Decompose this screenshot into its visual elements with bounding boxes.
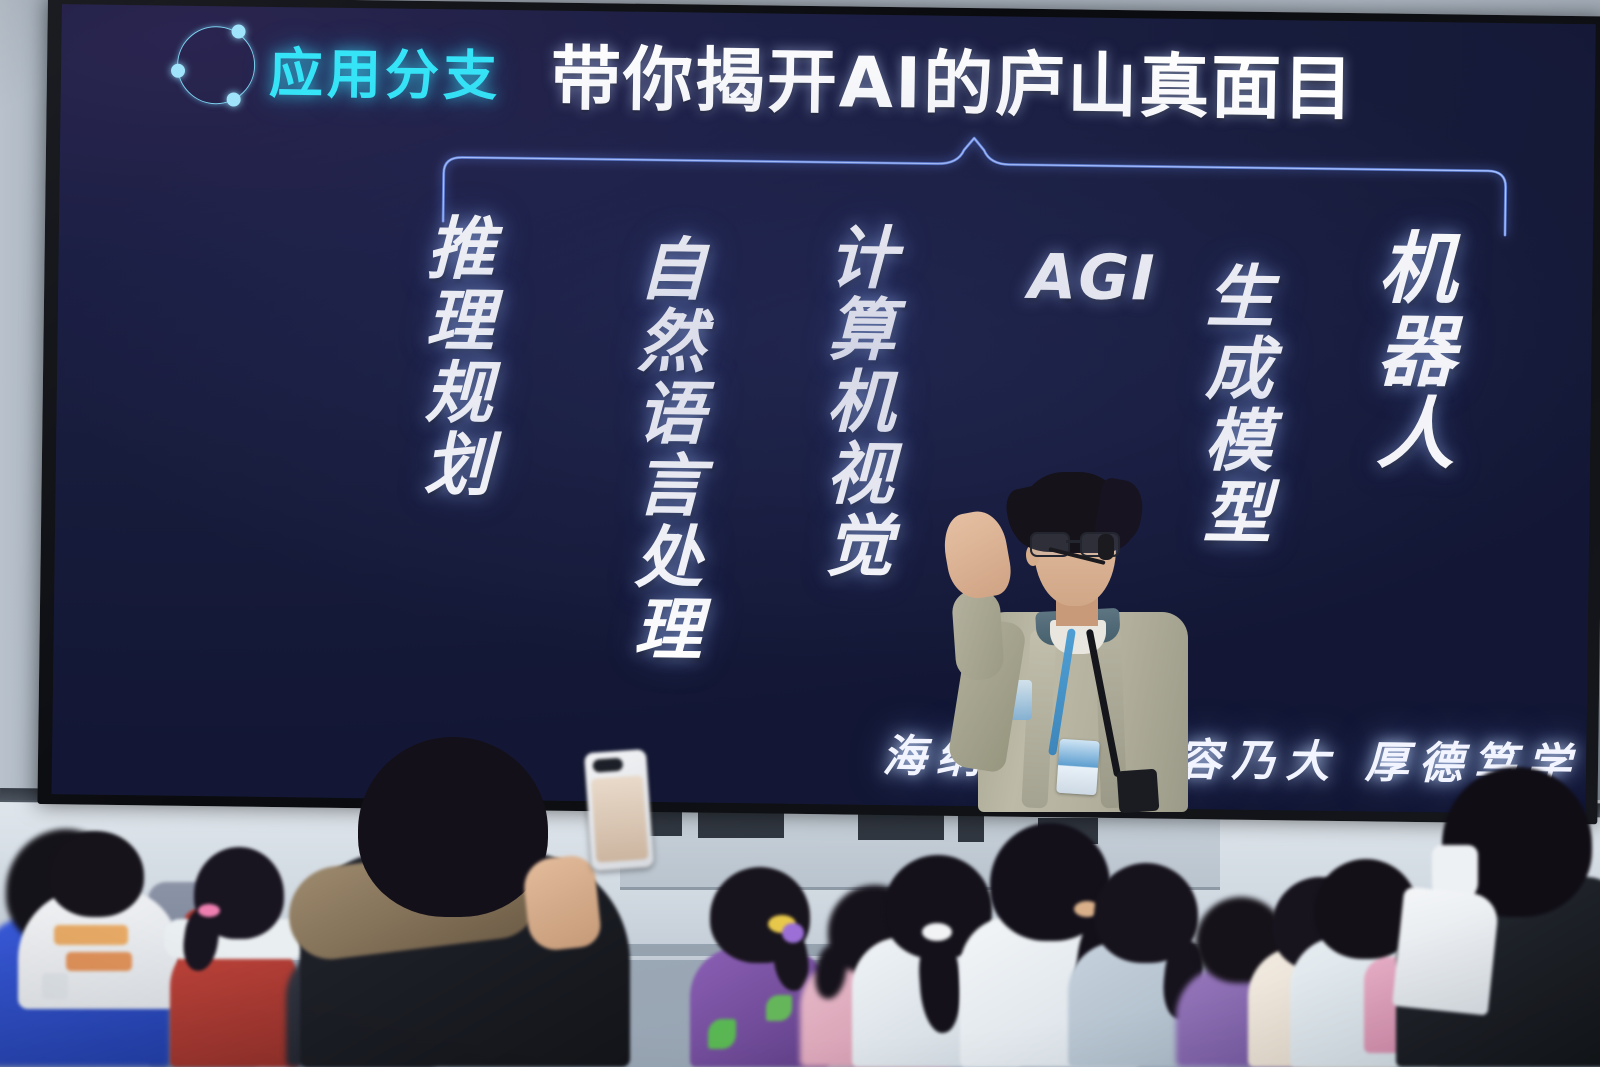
phone-screen[interactable] xyxy=(591,775,649,862)
slide-title: 带你揭开AI的庐山真面目 xyxy=(550,23,1355,135)
branch-char: 模 xyxy=(1204,406,1273,479)
branch-char: 理 xyxy=(425,286,494,359)
branch-reasoning-planning: 推 理 规 划 xyxy=(423,214,495,503)
presenter-forearm xyxy=(951,588,1005,681)
hair-tie xyxy=(922,923,952,941)
branch-nlp: 自 然 语 言 处 理 xyxy=(633,235,707,668)
branch-char: 推 xyxy=(426,214,495,287)
branch-char: 自 xyxy=(638,235,707,308)
branch-char: 算 xyxy=(827,295,896,368)
hair-tie xyxy=(782,923,804,943)
branch-char: 处 xyxy=(634,523,703,596)
branch-char: 觉 xyxy=(824,512,893,585)
pattern xyxy=(766,995,792,1021)
orbit-nodes-logo-icon xyxy=(169,18,262,111)
branch-generative-models: 生 成 模 型 xyxy=(1203,262,1275,551)
head xyxy=(358,737,548,917)
branch-char: 计 xyxy=(828,223,897,296)
phone-camera-icon xyxy=(592,758,623,773)
hair-tie xyxy=(198,904,220,917)
branch-char: 成 xyxy=(1205,334,1274,407)
branch-char: 划 xyxy=(423,430,492,503)
hoodie-print xyxy=(66,952,132,971)
white-shoulder xyxy=(1392,886,1500,1015)
branch-char: 型 xyxy=(1203,478,1272,551)
headset-earpiece xyxy=(1098,534,1114,560)
slide-kicker: 应用分支 xyxy=(269,29,502,111)
branch-computer-vision: 计 算 机 视 觉 xyxy=(824,223,897,584)
pattern xyxy=(708,1019,736,1049)
logo-ring xyxy=(177,26,256,105)
branch-char: 生 xyxy=(1206,262,1275,335)
smartphone[interactable] xyxy=(584,749,654,871)
presentation-display[interactable]: 应用分支 带你揭开AI的庐山真面目 推 理 规 划 自 xyxy=(37,0,1600,828)
logo-node-dot xyxy=(227,92,241,106)
branch-char: 机 xyxy=(826,367,895,440)
branch-char: 器 xyxy=(1377,311,1456,395)
branch-char: 言 xyxy=(635,451,704,524)
branch-char: 视 xyxy=(825,439,894,512)
branch-char: 然 xyxy=(637,307,706,380)
slide-canvas: 应用分支 带你揭开AI的庐山真面目 推 理 规 划 自 xyxy=(52,4,1596,814)
hoodie-print xyxy=(54,925,128,945)
branch-agi: AGI xyxy=(1028,240,1157,315)
screenshot-root: 应用分支 带你揭开AI的庐山真面目 推 理 规 划 自 xyxy=(0,0,1600,1067)
hoodie-print xyxy=(42,973,68,999)
branch-char: 机 xyxy=(1378,228,1457,312)
hand-holding-phone xyxy=(521,853,602,952)
logo-node-dot xyxy=(231,24,245,38)
branch-char: 人 xyxy=(1376,394,1455,478)
raised-hand xyxy=(939,507,1015,602)
branch-char: 理 xyxy=(633,595,702,668)
branch-char: 语 xyxy=(636,379,705,452)
branch-char: 规 xyxy=(424,358,493,431)
logo-node-dot xyxy=(171,64,185,78)
audience xyxy=(0,720,1600,1067)
branch-robotics: 机 器 人 xyxy=(1376,228,1457,477)
